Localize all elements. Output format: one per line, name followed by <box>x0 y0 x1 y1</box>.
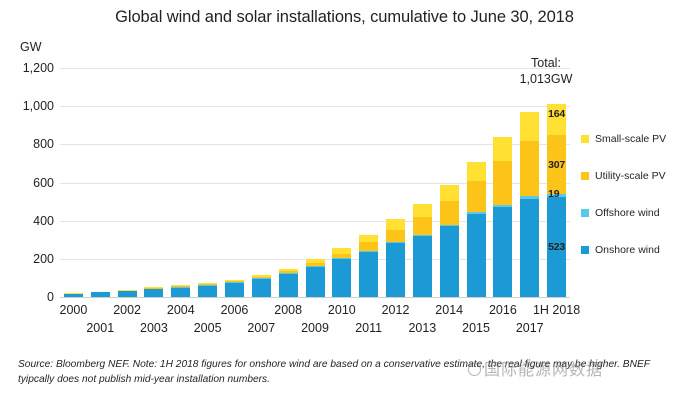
x-axis-tick: 2002 <box>100 304 154 318</box>
bar-segment <box>520 199 539 297</box>
bar[interactable] <box>467 162 486 297</box>
bar-value-label: 307 <box>548 160 565 171</box>
bar[interactable] <box>171 285 190 297</box>
x-axis-tick: 2017 <box>503 322 557 336</box>
y-axis-tick: 400 <box>8 215 54 228</box>
legend-item[interactable]: Onshore wind <box>581 244 689 256</box>
bar[interactable] <box>413 204 432 297</box>
legend-item[interactable]: Small-scale PV <box>581 133 689 145</box>
bar-segment <box>467 162 486 181</box>
bar[interactable] <box>64 293 83 297</box>
x-axis-tick: 2014 <box>422 304 476 318</box>
bar-segment <box>279 274 298 297</box>
total-annotation: Total: 1,013GW <box>498 56 594 87</box>
x-axis-tick: 2003 <box>127 322 181 336</box>
gridline <box>60 68 570 69</box>
bar[interactable] <box>118 290 137 297</box>
bar[interactable] <box>198 283 217 297</box>
legend-swatch-icon <box>581 172 589 180</box>
bar-segment <box>359 252 378 297</box>
bar-segment <box>520 112 539 141</box>
bar[interactable] <box>144 287 163 297</box>
x-axis-tick: 2004 <box>154 304 208 318</box>
x-axis-tick: 2008 <box>261 304 315 318</box>
legend-swatch-icon <box>581 246 589 254</box>
bar-segment <box>440 201 459 225</box>
bar-segment <box>467 214 486 297</box>
bar[interactable] <box>332 248 351 297</box>
chart-container: Global wind and solar installations, cum… <box>0 0 689 400</box>
y-axis-tick: 1,000 <box>8 100 54 113</box>
total-annotation-value: 1,013GW <box>498 72 594 88</box>
bar[interactable] <box>252 275 271 297</box>
bar-segment <box>252 279 271 297</box>
bar-segment <box>225 283 244 297</box>
legend-swatch-icon <box>581 209 589 217</box>
x-axis-tick: 1H 2018 <box>530 304 584 318</box>
bar[interactable] <box>520 112 539 297</box>
bar-segment <box>198 286 217 297</box>
x-axis-tick-labels: 2000200120022003200420052006200720082009… <box>60 300 570 346</box>
gridline <box>60 297 570 298</box>
y-axis-tick: 600 <box>8 177 54 190</box>
bar-segment <box>493 161 512 204</box>
x-axis-tick: 2016 <box>476 304 530 318</box>
bar-segment <box>413 204 432 217</box>
x-axis-tick: 2011 <box>342 322 396 336</box>
bar[interactable] <box>359 235 378 297</box>
gridline <box>60 106 570 107</box>
bar-segment <box>64 294 83 297</box>
bar[interactable] <box>493 137 512 297</box>
y-axis-unit-label: GW <box>20 40 42 54</box>
bar-segment <box>386 243 405 297</box>
legend-swatch-icon <box>581 135 589 143</box>
bar[interactable] <box>547 104 566 297</box>
bar-segment <box>493 207 512 297</box>
bar-segment <box>359 242 378 250</box>
bar[interactable] <box>306 259 325 297</box>
y-axis-tick-labels: 02004006008001,0001,200 <box>0 68 54 297</box>
bar-value-label: 164 <box>548 109 565 120</box>
x-axis-tick: 2009 <box>288 322 342 336</box>
source-note-line1: Source: Bloomberg NEF. Note: 1H 2018 fig… <box>18 359 586 370</box>
bar[interactable] <box>386 219 405 297</box>
y-axis-tick: 200 <box>8 253 54 266</box>
bar-segment <box>493 137 512 161</box>
x-axis-tick: 2012 <box>369 304 423 318</box>
bar[interactable] <box>279 269 298 297</box>
x-axis-tick: 2010 <box>315 304 369 318</box>
bar-segment <box>440 185 459 201</box>
y-axis-tick: 800 <box>8 138 54 151</box>
y-axis-tick: 0 <box>8 291 54 304</box>
legend-label: Offshore wind <box>595 207 660 219</box>
x-axis-tick: 2001 <box>73 322 127 336</box>
total-annotation-label: Total: <box>498 56 594 72</box>
bar-value-label: 523 <box>548 242 565 253</box>
legend-item[interactable]: Utility-scale PV <box>581 170 689 182</box>
legend-label: Small-scale PV <box>595 133 666 145</box>
bar-segment <box>440 226 459 297</box>
bar-segment <box>413 236 432 297</box>
bar-segment <box>171 288 190 297</box>
x-axis-tick: 2007 <box>234 322 288 336</box>
bar-value-label: 19 <box>548 189 559 200</box>
chart-legend: Small-scale PVUtility-scale PVOffshore w… <box>581 133 689 281</box>
x-axis-tick: 2000 <box>46 304 100 318</box>
x-axis-tick: 2013 <box>395 322 449 336</box>
x-axis-tick: 2015 <box>449 322 503 336</box>
bar-segment <box>332 259 351 297</box>
source-note: Source: Bloomberg NEF. Note: 1H 2018 fig… <box>18 357 678 388</box>
x-axis-tick: 2005 <box>181 322 235 336</box>
bar-segment <box>306 267 325 297</box>
bar-segment <box>520 141 539 195</box>
bar[interactable] <box>440 185 459 297</box>
y-axis-tick: 1,200 <box>8 62 54 75</box>
bar-segment <box>413 217 432 235</box>
bar-segment <box>386 230 405 242</box>
legend-label: Onshore wind <box>595 244 660 256</box>
bar-segment <box>359 235 378 243</box>
chart-title: Global wind and solar installations, cum… <box>0 8 689 27</box>
legend-item[interactable]: Offshore wind <box>581 207 689 219</box>
bar-segment <box>118 291 137 297</box>
bar-segment <box>144 289 163 297</box>
bar[interactable] <box>91 292 110 297</box>
bar-segment <box>91 292 110 297</box>
legend-label: Utility-scale PV <box>595 170 666 182</box>
plot-area: 16430719523 <box>60 68 570 297</box>
x-axis-tick: 2006 <box>207 304 261 318</box>
bar-segment <box>467 181 486 212</box>
bar-segment <box>386 219 405 229</box>
bar[interactable] <box>225 280 244 297</box>
